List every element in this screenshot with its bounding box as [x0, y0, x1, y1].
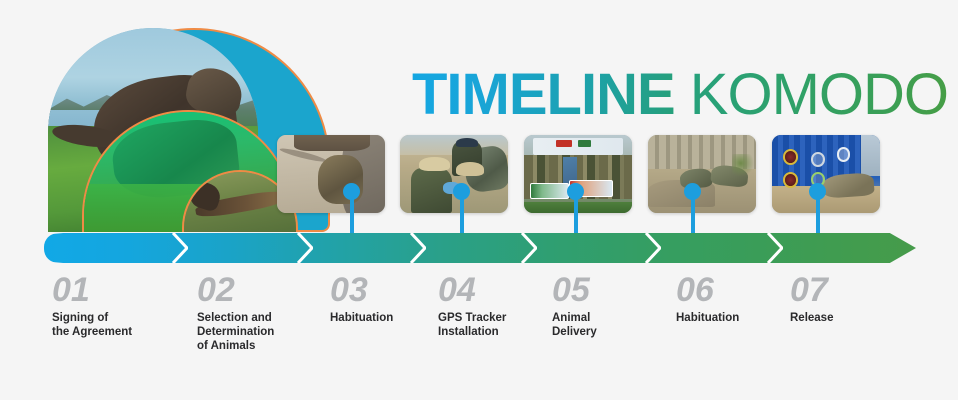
- step-number-04: 04: [438, 272, 506, 308]
- step-label-06: Habituation: [676, 311, 739, 325]
- chevron-separator-3: [410, 233, 426, 263]
- step-label-05: Animal Delivery: [552, 311, 597, 339]
- step-number-01: 01: [52, 272, 132, 308]
- connector-dot-03: [343, 183, 360, 200]
- step-thumbnail-04[interactable]: [400, 135, 508, 213]
- timeline-step-02[interactable]: 02 Selection and Determination of Animal…: [197, 272, 274, 353]
- chevron-separator-6: [767, 233, 783, 263]
- connector-dot-05: [567, 183, 584, 200]
- step-thumbnail-07[interactable]: [772, 135, 880, 213]
- timeline-arrow-bar: [44, 233, 916, 263]
- connector-dot-07: [809, 183, 826, 200]
- timeline-step-05[interactable]: 05 Animal Delivery: [552, 272, 597, 339]
- step-label-07: Release: [790, 311, 833, 325]
- step-thumbnail-03[interactable]: [277, 135, 385, 213]
- step-number-06: 06: [676, 272, 739, 308]
- step-number-03: 03: [330, 272, 393, 308]
- step-number-07: 07: [790, 272, 833, 308]
- title-primary: TIMELINE: [412, 62, 675, 127]
- timeline-step-01[interactable]: 01 Signing of the Agreement: [52, 272, 132, 339]
- step-label-01: Signing of the Agreement: [52, 311, 132, 339]
- timeline-step-07[interactable]: 07 Release: [790, 272, 833, 325]
- timeline-infographic: TIMELINE KOMODO: [0, 0, 958, 400]
- step-label-04: GPS Tracker Installation: [438, 311, 506, 339]
- title-secondary: KOMODO: [690, 62, 948, 127]
- connector-dot-06: [684, 183, 701, 200]
- chevron-separator-5: [645, 233, 661, 263]
- step-label-02: Selection and Determination of Animals: [197, 311, 274, 353]
- step-number-02: 02: [197, 272, 274, 308]
- step-thumbnail-05[interactable]: [524, 135, 632, 213]
- chevron-separator-2: [297, 233, 313, 263]
- step-label-03: Habituation: [330, 311, 393, 325]
- page-title: TIMELINE KOMODO: [412, 66, 948, 124]
- chevron-separator-4: [521, 233, 537, 263]
- timeline-step-03[interactable]: 03 Habituation: [330, 272, 393, 325]
- timeline-step-04[interactable]: 04 GPS Tracker Installation: [438, 272, 506, 339]
- step-thumbnail-06[interactable]: [648, 135, 756, 213]
- chevron-separator-1: [172, 233, 188, 263]
- timeline-step-06[interactable]: 06 Habituation: [676, 272, 739, 325]
- step-number-05: 05: [552, 272, 597, 308]
- connector-dot-04: [453, 183, 470, 200]
